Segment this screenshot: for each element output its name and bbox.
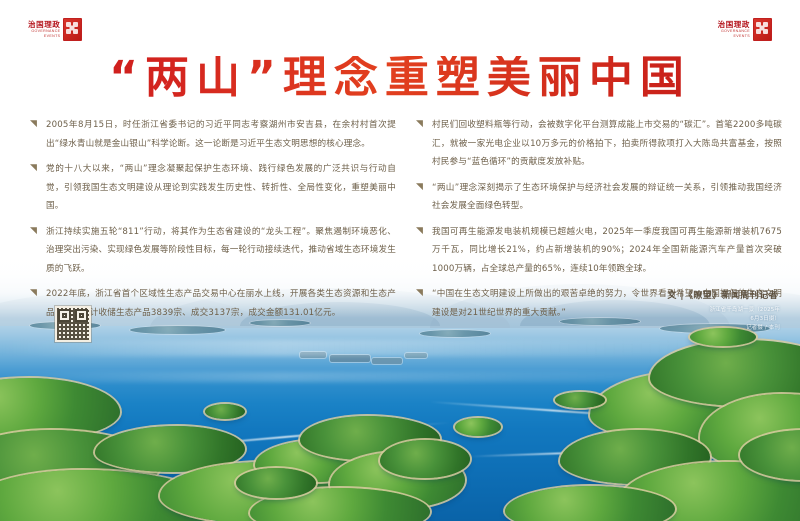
bullet-text: 我国可再生能源发电装机规模已超越火电，2025年一季度我国可再生能源新增装机76…: [432, 223, 782, 279]
poster-root: 治国理政 GOVERNANCE EVENTS 治国理政 GOVERNANCE E…: [0, 0, 800, 521]
arrow-bullet-icon: ◥: [416, 288, 429, 297]
logo-right-english-line1: GOVERNANCE: [721, 30, 750, 34]
bullet-text: 2022年底，浙江省首个区域性生态产品交易中心在丽水上线，开展各类生态资源和生态…: [46, 285, 396, 322]
page-title: “两山”理念重塑美丽中国: [0, 56, 800, 100]
logo-left-english-line1: GOVERNANCE: [31, 30, 60, 34]
bullet-text: 党的十八大以来，“两山”理念凝聚起保护生态环境、践行绿色发展的广泛共识与行动自觉…: [46, 160, 396, 216]
logo-left-english-line2: EVENTS: [44, 35, 60, 39]
logo-left: 治国理政 GOVERNANCE EVENTS: [28, 18, 82, 41]
bullet-text: 浙江持续实施五轮“811”行动，将其作为生态省建设的“龙头工程”。聚焦遏制环境恶…: [46, 223, 396, 279]
arrow-bullet-icon: ◥: [30, 119, 43, 128]
arrow-bullet-icon: ◥: [30, 226, 43, 235]
seal-icon: [63, 18, 82, 41]
bullet-item: ◥ 浙江持续实施五轮“811”行动，将其作为生态省建设的“龙头工程”。聚焦遏制环…: [30, 223, 396, 279]
logo-right-english-line2: EVENTS: [734, 35, 750, 39]
photo-caption-line2: 6月3日摄）: [630, 315, 780, 324]
photo-credit: 记者摄 / 本刊: [630, 324, 780, 333]
arrow-bullet-icon: ◥: [30, 288, 43, 297]
bullet-item: ◥ 我国可再生能源发电装机规模已超越火电，2025年一季度我国可再生能源新增装机…: [416, 223, 782, 279]
logo-left-wordmark: 治国理政 GOVERNANCE EVENTS: [28, 21, 60, 39]
bullet-text: “两山”理念深刻揭示了生态环境保护与经济社会发展的辩证统一关系，引领推动我国经济…: [432, 179, 782, 216]
logo-right-chinese: 治国理政: [718, 21, 750, 29]
column-left: ◥ 2005年8月15日，时任浙江省委书记的习近平同志考察湖州市安吉县，在余村村…: [30, 116, 396, 329]
logo-right: 治国理政 GOVERNANCE EVENTS: [718, 18, 772, 41]
bullet-item: ◥ 党的十八大以来，“两山”理念凝聚起保护生态环境、践行绿色发展的广泛共识与行动…: [30, 160, 396, 216]
bullet-item: ◥ 村民们回收塑料瓶等行动，会被数字化平台测算成能上市交易的“碳汇”。首笔220…: [416, 116, 782, 172]
arrow-bullet-icon: ◥: [416, 226, 429, 235]
arrow-bullet-icon: ◥: [416, 119, 429, 128]
byline: 文 |《瞭望》新闻周刊记者: [667, 288, 778, 301]
bullet-text: 2005年8月15日，时任浙江省委书记的习近平同志考察湖州市安吉县，在余村村首次…: [46, 116, 396, 153]
arrow-bullet-icon: ◥: [416, 182, 429, 191]
qr-code[interactable]: [55, 306, 91, 342]
logo-right-wordmark: 治国理政 GOVERNANCE EVENTS: [718, 21, 750, 39]
seal-icon: [753, 18, 772, 41]
photo-caption-line1: 浙江省千岛湖一景（2025年: [630, 306, 780, 315]
bullet-item: ◥ “两山”理念深刻揭示了生态环境保护与经济社会发展的辩证统一关系，引领推动我国…: [416, 179, 782, 216]
logo-left-chinese: 治国理政: [28, 21, 60, 29]
bullet-text: 村民们回收塑料瓶等行动，会被数字化平台测算成能上市交易的“碳汇”。首笔2200多…: [432, 116, 782, 172]
photo-caption: 浙江省千岛湖一景（2025年 6月3日摄） 记者摄 / 本刊: [630, 306, 780, 333]
qr-code-pattern: [57, 308, 89, 340]
bullet-item: ◥ 2005年8月15日，时任浙江省委书记的习近平同志考察湖州市安吉县，在余村村…: [30, 116, 396, 153]
arrow-bullet-icon: ◥: [30, 163, 43, 172]
